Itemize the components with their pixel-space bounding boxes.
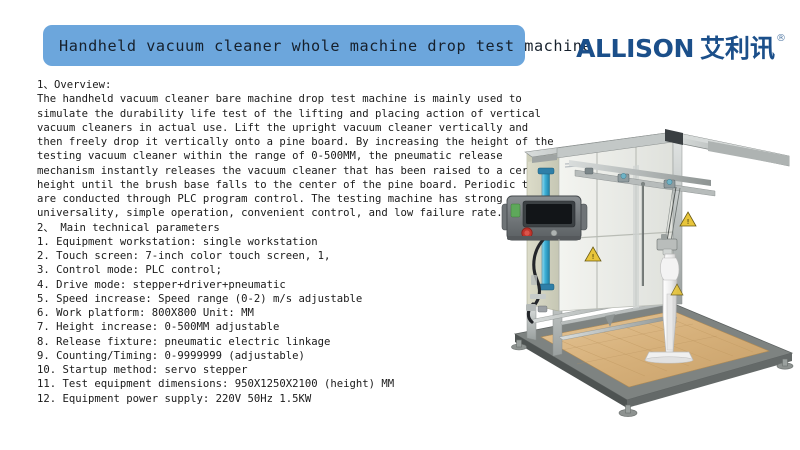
parameter-item: 1. Equipment workstation: single worksta… (37, 235, 517, 249)
parameter-item: 8. Release fixture: pneumatic electric l… (37, 335, 517, 349)
parameter-item: 2. Touch screen: 7-inch color touch scre… (37, 249, 517, 263)
touch-screen-display (526, 204, 572, 224)
overview-line: are conducted through PLC program contro… (37, 192, 517, 206)
logo-chinese-text: 艾利讯 (700, 36, 775, 62)
parameter-item: 10. Startup method: servo stepper (37, 363, 517, 377)
parameters-heading: 2、 Main technical parameters (37, 221, 517, 235)
overview-line: height until the brush base falls to the… (37, 178, 517, 192)
status-indicator (511, 204, 520, 217)
hmi-touch-screen-panel (502, 196, 587, 240)
parameter-item: 4. Drive mode: stepper+driver+pneumatic (37, 278, 517, 292)
panel-button (551, 230, 557, 236)
overview-line: testing vacuum cleaner within the range … (37, 149, 517, 163)
overview-line: vacuum cleaners in actual use. Lift the … (37, 121, 517, 135)
svg-text:!: ! (592, 253, 595, 261)
drop-test-machine-photo: ! ! (497, 108, 797, 438)
parameter-item: 3. Control mode: PLC control; (37, 263, 517, 277)
parameter-item: 6. Work platform: 800X800 Unit: MM (37, 306, 517, 320)
overview-heading: 1、Overview: (37, 78, 517, 92)
svg-text:!: ! (687, 218, 690, 226)
parameter-item: 12. Equipment power supply: 220V 50Hz 1.… (37, 392, 517, 406)
overview-line: universality, simple operation, convenie… (37, 206, 517, 220)
yellow-warning-label: ! (680, 212, 696, 226)
parameter-item: 11. Test equipment dimensions: 950X1250X… (37, 377, 517, 391)
overview-line: mechanism instantly releases the vacuum … (37, 164, 517, 178)
overview-line: The handheld vacuum cleaner bare machine… (37, 92, 517, 106)
logo-latin-text: ALLISON (576, 36, 694, 62)
description-text-block: 1、Overview: The handheld vacuum cleaner … (37, 78, 517, 406)
brand-logo: ALLISON 艾利讯 ® (576, 36, 786, 66)
registered-trademark-icon: ® (776, 34, 786, 44)
parameter-item: 5. Speed increase: Speed range (0-2) m/s… (37, 292, 517, 306)
overview-line: simulate the durability life test of the… (37, 107, 517, 121)
overview-line: then freely drop it vertically onto a pi… (37, 135, 517, 149)
parameter-item: 7. Height increase: 0-500MM adjustable (37, 320, 517, 334)
page-title-banner: Handheld vacuum cleaner whole machine dr… (43, 25, 525, 66)
parameter-item: 9. Counting/Timing: 0-9999999 (adjustabl… (37, 349, 517, 363)
page-title: Handheld vacuum cleaner whole machine dr… (59, 37, 592, 55)
